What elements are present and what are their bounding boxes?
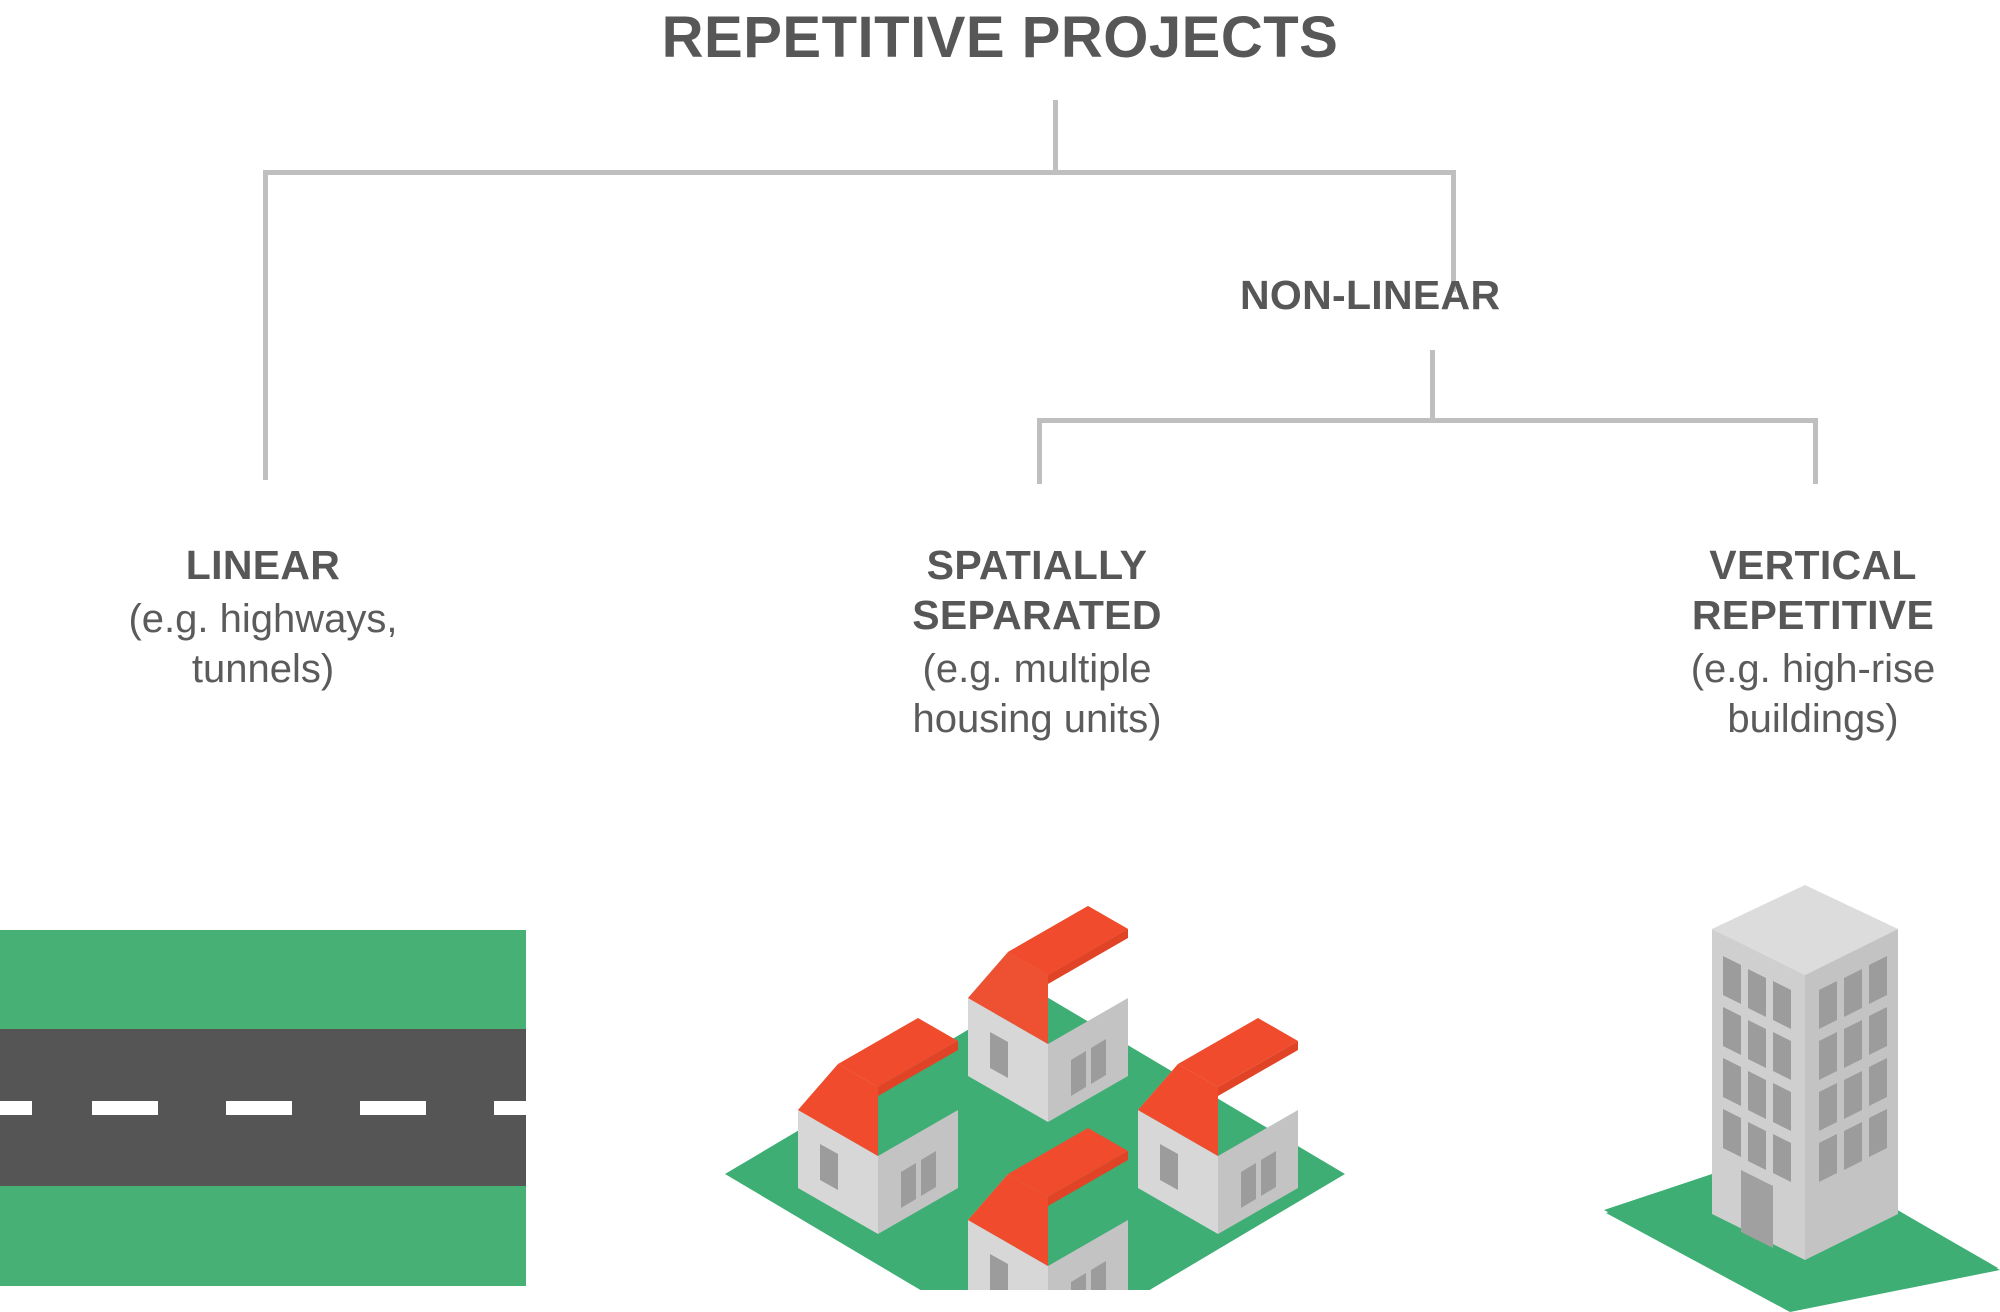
road-lane-dash	[226, 1101, 292, 1115]
diagram-title: REPETITIVE PROJECTS	[0, 4, 2000, 71]
branch-linear-heading: LINEAR	[23, 540, 503, 590]
branch-spatial-example: (e.g. multiple housing units)	[797, 644, 1277, 745]
branch-vertical-heading-line-2: REPETITIVE	[1573, 590, 2000, 640]
branch-vertical-example-line-2: buildings)	[1573, 694, 2000, 744]
house-right	[1138, 1018, 1298, 1234]
branch-spatial-example-line-2: housing units)	[797, 694, 1277, 744]
branch-vertical-repetitive: VERTICAL REPETITIVE (e.g. high-rise buil…	[1573, 540, 2000, 745]
connector-second-bar	[1037, 418, 1818, 423]
road-illustration	[0, 930, 526, 1286]
branch-vertical-heading-line-1: VERTICAL	[1573, 540, 2000, 590]
diagram-canvas: REPETITIVE PROJECTS NON-LINEAR LINEAR (e…	[0, 0, 2000, 1312]
branch-linear-example: (e.g. highways, tunnels)	[23, 594, 503, 695]
houses-illustration	[690, 890, 1380, 1290]
road-lane-dash	[494, 1101, 534, 1115]
branch-spatial-heading-line-2: SEPARATED	[797, 590, 1277, 640]
branch-linear: LINEAR (e.g. highways, tunnels)	[23, 540, 503, 695]
tower-illustration	[1580, 870, 2000, 1312]
branch-vertical-example-line-1: (e.g. high-rise	[1573, 644, 2000, 694]
road-grass-top	[0, 930, 526, 1029]
road-lane-dash	[0, 1101, 32, 1115]
connector-title-stem	[1053, 100, 1058, 175]
road-grass-bottom	[0, 1186, 526, 1286]
connector-top-bar	[263, 170, 1456, 175]
branch-spatial-example-line-1: (e.g. multiple	[797, 644, 1277, 694]
branch-linear-example-line-2: tunnels)	[23, 644, 503, 694]
branch-spatially-separated: SPATIALLY SEPARATED (e.g. multiple housi…	[797, 540, 1277, 745]
road-lane-dash	[360, 1101, 426, 1115]
connector-nonlinear-stem	[1430, 350, 1435, 422]
connector-leg-linear	[263, 170, 268, 480]
branch-spatial-heading-line-1: SPATIALLY	[797, 540, 1277, 590]
branch-vertical-heading: VERTICAL REPETITIVE	[1573, 540, 2000, 640]
road-lane-dash	[92, 1101, 158, 1115]
branch-spatial-heading: SPATIALLY SEPARATED	[797, 540, 1277, 640]
branch-linear-heading-line-1: LINEAR	[23, 540, 503, 590]
connector-leg-spatial	[1037, 418, 1042, 484]
house-left	[798, 1018, 958, 1234]
house-back	[968, 906, 1128, 1122]
node-non-linear: NON-LINEAR	[1240, 272, 1500, 319]
branch-linear-example-line-1: (e.g. highways,	[23, 594, 503, 644]
connector-leg-vertical	[1813, 418, 1818, 484]
branch-vertical-example: (e.g. high-rise buildings)	[1573, 644, 2000, 745]
